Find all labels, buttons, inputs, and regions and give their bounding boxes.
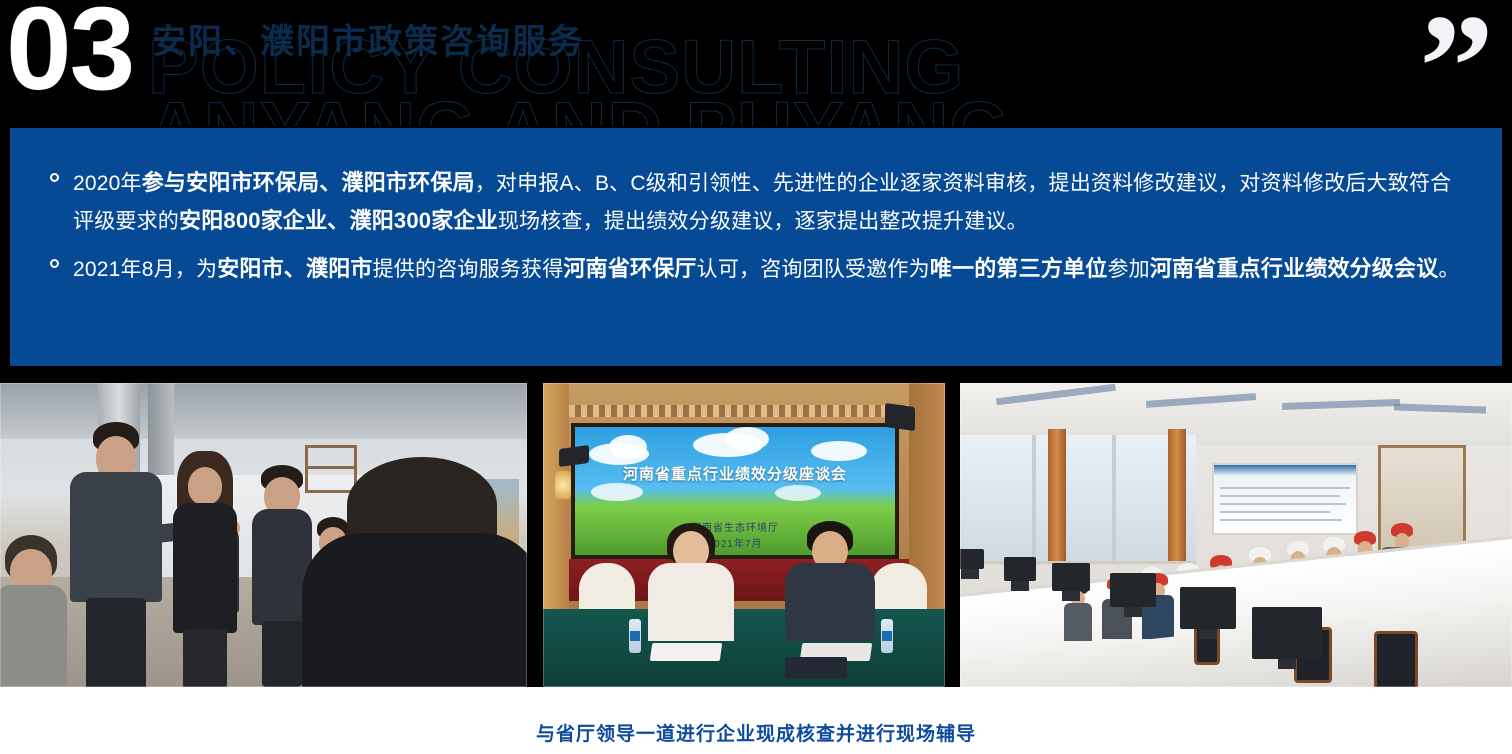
body-text: 2020年 xyxy=(73,172,142,195)
board-line xyxy=(1220,495,1340,497)
window xyxy=(960,435,1196,564)
information-board xyxy=(1212,463,1358,535)
photo-strip: 河南省重点行业绩效分级座谈会 河南省生态环境厅 2021年7月 xyxy=(0,383,1512,687)
monitor xyxy=(1004,557,1036,581)
legs xyxy=(262,621,302,687)
caption-bar: 与省厅领导一道进行企业现成核查并进行现场辅导 xyxy=(0,687,1512,754)
person-figure xyxy=(172,451,238,687)
emphasis-text: 河南省重点行业绩效分级会议 xyxy=(1150,256,1439,281)
list-item: 2020年参与安阳市环保局、濮阳市环保局，对申报A、B、C级和引领性、先进性的企… xyxy=(40,164,1472,240)
person-figure-seated xyxy=(649,523,733,633)
slide-number: 03 xyxy=(6,0,133,108)
photo-caption: 与省厅领导一道进行企业现成核查并进行现场辅导 xyxy=(0,719,1512,746)
bullet-text-2: 2021年8月，为安阳市、濮阳市提供的咨询服务获得河南省环保厅认可，咨询团队受邀… xyxy=(73,250,1472,288)
board-line xyxy=(1220,487,1350,489)
emphasis-text: 河南省环保厅 xyxy=(563,256,696,281)
photo-3-scene xyxy=(960,383,1512,687)
legs xyxy=(183,629,227,687)
emphasis-text: 唯一的第三方单位 xyxy=(930,256,1108,281)
quote-mark-icon: ” xyxy=(1419,26,1494,109)
torso xyxy=(1064,603,1092,641)
legs xyxy=(86,598,146,687)
curtain xyxy=(1168,429,1186,561)
monitor xyxy=(1252,607,1322,659)
bullet-text-1: 2020年参与安阳市环保局、濮阳市环保局，对申报A、B、C级和引领性、先进性的企… xyxy=(73,164,1472,240)
monitor xyxy=(1110,573,1156,607)
head xyxy=(188,467,222,505)
chair-back xyxy=(1374,631,1418,687)
cloud xyxy=(609,435,647,459)
body-text: 2021年8月，为 xyxy=(73,258,217,281)
cloud xyxy=(725,427,769,451)
torso xyxy=(173,503,237,633)
person-figure-seated xyxy=(787,521,873,633)
folder xyxy=(785,657,847,679)
cloud xyxy=(811,441,867,461)
circle-outline-bullet-icon xyxy=(50,259,59,268)
body-text: 现场核查，提出绩效分级建议，逐家提出整改提升建议。 xyxy=(498,210,1028,233)
photo-2-scene: 河南省重点行业绩效分级座谈会 河南省生态环境厅 2021年7月 xyxy=(543,383,945,687)
torso xyxy=(648,563,734,641)
body-text: 。 xyxy=(1438,258,1459,281)
title-english-line2: ANYANG AND PUYANG xyxy=(152,92,1010,126)
wall-lamp xyxy=(555,471,571,499)
screen-title: 河南省重点行业绩效分级座谈会 xyxy=(575,463,895,484)
torso xyxy=(302,533,527,687)
board-line xyxy=(1220,503,1346,505)
board-line xyxy=(1220,511,1330,513)
monitor xyxy=(1180,587,1236,629)
content-box: 2020年参与安阳市环保局、濮阳市环保局，对申报A、B、C级和引领性、先进性的企… xyxy=(10,128,1502,366)
cloud xyxy=(591,483,643,501)
slide-header: 03 POLICY CONSULTING ANYANG AND PUYANG 安… xyxy=(0,0,1512,128)
torso xyxy=(0,585,67,687)
wall-speaker xyxy=(885,403,915,431)
person-figure-foreground xyxy=(307,457,527,687)
person-figure xyxy=(0,527,66,687)
body-text: 提供的咨询服务获得 xyxy=(373,258,564,281)
cloud xyxy=(775,485,821,501)
circle-outline-bullet-icon xyxy=(50,173,59,182)
person-figure-speaking xyxy=(70,422,162,687)
emphasis-text: 安阳市、濮阳市 xyxy=(217,256,372,281)
board-line xyxy=(1220,519,1342,521)
monitor xyxy=(960,549,984,569)
title-stack: POLICY CONSULTING ANYANG AND PUYANG 安阳、濮… xyxy=(152,8,1392,126)
monitor xyxy=(1052,563,1090,591)
document-paper xyxy=(650,643,723,661)
emphasis-text: 安阳800家企业、濮阳300家企业 xyxy=(179,208,498,233)
body-text: 认可，咨询团队受邀作为 xyxy=(697,258,930,281)
emphasis-text: 参与安阳市环保局、濮阳市环保局 xyxy=(142,170,475,195)
photo-site-inspection xyxy=(0,383,527,687)
torso xyxy=(785,563,875,641)
photo-conference: 河南省重点行业绩效分级座谈会 河南省生态环境厅 2021年7月 xyxy=(543,383,945,687)
water-bottle xyxy=(881,619,893,653)
body-text: 参加 xyxy=(1107,258,1149,281)
photo-1-scene xyxy=(0,383,527,687)
curtain xyxy=(1048,429,1066,561)
list-item: 2021年8月，为安阳市、濮阳市提供的咨询服务获得河南省环保厅认可，咨询团队受邀… xyxy=(40,250,1472,288)
page-title: 安阳、濮阳市政策咨询服务 xyxy=(152,14,584,63)
photo-control-room xyxy=(960,383,1512,687)
water-bottle xyxy=(629,619,641,653)
wall-trim xyxy=(569,405,909,417)
